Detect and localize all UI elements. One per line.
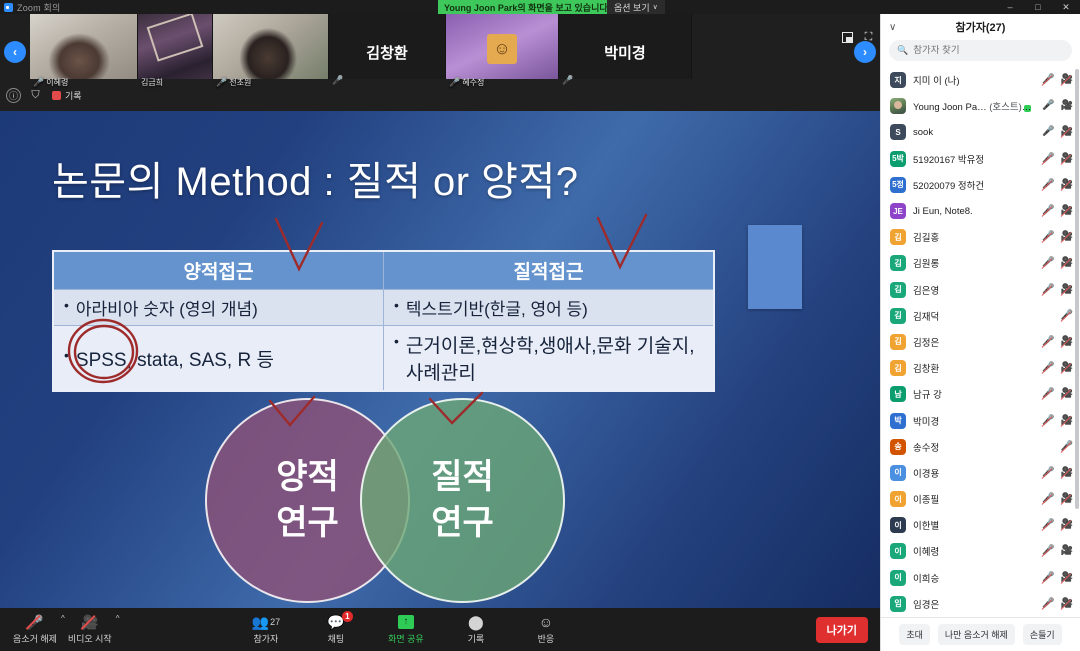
table-cell-text: 근거이론,현상학,생애사,문화 기술지,사례관리 [406, 331, 703, 385]
fullscreen-icon[interactable]: ⛶ [863, 32, 874, 43]
unmute-me-button[interactable]: 나만 음소거 해제 [938, 624, 1015, 645]
participants-scrollbar[interactable] [1075, 69, 1079, 509]
avatar: JE [890, 203, 906, 219]
video-options-caret-icon[interactable]: ^ [116, 614, 120, 623]
mic-off-icon[interactable]: 🎤 [1042, 285, 1054, 295]
toolbar-left-controls: 🎤 음소거 해제 ^ 🎥 비디오 시작 ^ [12, 608, 120, 651]
participants-panel-header: ∨ 참가자(27) [881, 14, 1080, 40]
avatar [890, 98, 906, 114]
mic-on-icon[interactable]: 🎤 [1042, 101, 1054, 111]
participant-status-icons: 🎤🎥 [1042, 546, 1073, 556]
participant-name: 이경용 [913, 466, 1035, 480]
participant-row[interactable]: 김김창환🎤🎥 [881, 355, 1080, 381]
camera-off-icon[interactable]: 🎥 [1061, 75, 1073, 85]
share-screen-button[interactable]: ↑ 화면 공유 [383, 608, 429, 651]
camera-off-icon[interactable]: 🎥 [1061, 389, 1073, 399]
table-header-cell: 질적접근 [384, 251, 715, 290]
close-button[interactable]: ✕ [1052, 0, 1080, 14]
chevron-down-icon: ∨ [653, 3, 658, 11]
avatar: 박 [890, 413, 906, 429]
bullet-icon: • [64, 295, 69, 315]
participants-icon: 👥27 [252, 614, 280, 630]
camera-off-icon[interactable]: 🎥 [1061, 363, 1073, 373]
screen-share-banner: Young Joon Park의 화면을 보고 있습니다. [438, 0, 616, 14]
camera-off-icon[interactable]: 🎥 [1061, 573, 1073, 583]
shield-icon[interactable]: ⛉ [28, 88, 43, 103]
participant-name: 이종필 [913, 492, 1035, 506]
participants-panel-footer: 초대 나만 음소거 해제 손들기 [881, 617, 1080, 651]
participant-status-icons: 🎤🎥 [1042, 285, 1073, 295]
tile-name-badge: 🎤 혜수정 [449, 77, 484, 88]
avatar: 이 [890, 517, 906, 533]
participant-row[interactable]: 이이희승🎤🎥 [881, 565, 1080, 591]
share-screen-icon: ↑ [398, 614, 414, 630]
camera-off-icon: 🎥 [81, 614, 98, 630]
participant-row[interactable]: Young Joon Pa… (호스트)↑🎤🎥 [881, 93, 1080, 119]
participant-status-icons: 🎤🎥 [1042, 258, 1073, 268]
venn-label-line2: 연구 [276, 501, 339, 547]
participant-name: Ji Eun, Note8. [913, 206, 1035, 217]
participant-row[interactable]: 김김재덕🎤 [881, 303, 1080, 329]
participant-name: 박미경 [913, 414, 1035, 428]
camera-off-icon[interactable]: 🎥 [1061, 180, 1073, 190]
slide-title: 논문의 Method : 질적 or 양적? [52, 149, 579, 207]
camera-off-icon[interactable]: 🎥 [1061, 258, 1073, 268]
share-status-bar: ⓘ ⛉ 기록 [0, 79, 880, 111]
participant-name: 김재덕 [913, 309, 1054, 323]
avatar: 송 [890, 439, 906, 455]
video-control[interactable]: 🎥 비디오 시작 ^ [67, 608, 120, 651]
avatar: 5박 [890, 151, 906, 167]
camera-on-icon[interactable]: 🎥 [1061, 101, 1073, 111]
participant-row[interactable]: 이이혜령🎤🎥 [881, 538, 1080, 564]
mic-off-icon: 🎤 [33, 78, 44, 87]
venn-label-line1: 양적 [276, 455, 339, 501]
participant-name: 김정은 [913, 335, 1035, 349]
chat-label: 채팅 [328, 632, 345, 645]
participant-name: 이한별 [913, 518, 1035, 532]
mic-off-icon[interactable]: 🎤 [1042, 573, 1054, 583]
record-button[interactable]: ⬤ 기록 [453, 608, 499, 651]
mic-off-icon[interactable]: 🎤 [1042, 468, 1054, 478]
tile-name-badge: 🎤 전초원 [216, 77, 251, 88]
table-cell: • SPSS, stata, SAS, R 등 [53, 326, 384, 392]
view-options-label: 옵션 보기 [614, 1, 650, 14]
mic-off-icon[interactable]: 🎤 [1042, 206, 1054, 216]
participant-name: 이희승 [913, 571, 1035, 585]
participant-name: 송수정 [913, 440, 1054, 454]
participant-row[interactable]: 이이한별🎤🎥 [881, 512, 1080, 538]
participant-status-icons: 🎤🎥 [1042, 337, 1073, 347]
camera-off-icon[interactable]: 🎥 [1061, 206, 1073, 216]
participants-search-wrap: 🔍 [881, 40, 1080, 67]
mic-off-icon[interactable]: 🎤 [1042, 258, 1054, 268]
mic-off-icon[interactable]: 🎤 [1042, 389, 1054, 399]
table-row: • SPSS, stata, SAS, R 등 • 근거이론,현상학,생애사,문… [53, 326, 714, 392]
recording-indicator: 기록 [52, 89, 82, 102]
mic-off-icon: 🎤 [562, 75, 573, 85]
tile-name-badge: 김금희 [141, 77, 163, 88]
participant-name: 김원롱 [913, 256, 1035, 270]
comparison-table: 양적접근 질적접근 • 아라비아 숫자 (영의 개념) • 텍스트기반(한글, … [52, 250, 715, 392]
mic-off-icon: 🎤 [216, 78, 227, 87]
maximize-button[interactable]: □ [1024, 0, 1052, 14]
participants-panel-title: 참가자(27) [956, 19, 1006, 35]
participant-status-icons: 🎤🎥 [1042, 520, 1073, 530]
avatar: 이 [890, 543, 906, 559]
participant-name: 이혜령 [913, 544, 1035, 558]
bullet-icon: • [394, 331, 399, 351]
camera-off-icon[interactable]: 🎥 [1061, 232, 1073, 242]
reactions-label: 반응 [538, 632, 555, 645]
participant-row[interactable]: Ssook🎤🎥 [881, 119, 1080, 145]
avatar: 지 [890, 72, 906, 88]
camera-off-icon[interactable]: 🎥 [1061, 599, 1073, 609]
table-cell-text: SPSS, stata, SAS, R 등 [76, 345, 274, 372]
venn-label-line1: 질적 [431, 455, 494, 501]
mic-off-icon[interactable]: 🎤 [1042, 416, 1054, 426]
toolbar-center-controls: 👥27 참가자 💬 1 채팅 ↑ 화면 공유 ⬤ 기록 ☺ 반응 [243, 608, 569, 651]
participant-row[interactable]: 송송수정🎤 [881, 434, 1080, 460]
camera-off-icon[interactable]: 🎥 [1061, 468, 1073, 478]
unmute-button[interactable]: 🎤 음소거 해제 [12, 608, 58, 651]
mic-off-icon[interactable]: 🎤 [1042, 180, 1054, 190]
mic-off-icon[interactable]: 🎤 [1042, 337, 1054, 347]
filmstrip-view-controls: ⛶ [842, 32, 874, 43]
participant-name: 김길홍 [913, 230, 1035, 244]
participant-status-icons: 🎤🎥 [1042, 75, 1073, 85]
collapse-panel-icon[interactable]: ∨ [889, 22, 896, 33]
participants-list[interactable]: 지지미 이 (나)🎤🎥Young Joon Pa… (호스트)↑🎤🎥Ssook🎤… [881, 67, 1080, 617]
zoom-logo-icon [4, 3, 13, 12]
camera-off-icon[interactable]: 🎥 [1061, 520, 1073, 530]
avatar: S [890, 124, 906, 140]
participant-row[interactable]: 5박51920167 박유정🎤🎥 [881, 146, 1080, 172]
filmstrip-prev-button[interactable]: ‹ [4, 41, 26, 63]
recording-dot-icon [1034, 102, 1035, 110]
window-titlebar: Zoom 회의 Young Joon Park의 화면을 보고 있습니다. 옵션… [0, 0, 1080, 14]
participant-status-icons: 🎤🎥 [1042, 232, 1073, 242]
participant-status-icons: 🎤🎥 [1042, 416, 1073, 426]
table-cell: • 텍스트기반(한글, 영어 등) [384, 290, 715, 326]
avatar: 김 [890, 334, 906, 350]
participant-row[interactable]: JEJi Eun, Note8.🎤🎥 [881, 198, 1080, 224]
table-cell-text: 텍스트기반(한글, 영어 등) [406, 295, 588, 320]
participants-button[interactable]: 👥27 참가자 [243, 608, 289, 651]
participant-row[interactable]: 박박미경🎤🎥 [881, 407, 1080, 433]
participant-name: sook [913, 127, 1035, 138]
view-options-button[interactable]: 옵션 보기 ∨ [607, 0, 665, 14]
mic-off-icon: 🎤 [332, 75, 343, 85]
participant-row[interactable]: 이이경용🎤🎥 [881, 460, 1080, 486]
avatar: 5정 [890, 177, 906, 193]
participant-status-icons: 🎤🎥 [1042, 180, 1073, 190]
participant-status-icons: 🎤🎥 [1042, 573, 1073, 583]
audio-options-caret-icon[interactable]: ^ [61, 614, 65, 623]
zoom-meeting-window: Zoom 회의 Young Joon Park의 화면을 보고 있습니다. 옵션… [0, 0, 1080, 651]
camera-on-icon[interactable]: 🎥 [1061, 546, 1073, 556]
filmstrip-next-button[interactable]: › [854, 41, 876, 63]
avatar: 김 [890, 282, 906, 298]
table-cell-text: 아라비아 숫자 (영의 개념) [76, 295, 258, 320]
tile-participant-name: 이혜령 [46, 77, 68, 88]
avatar: 이 [890, 570, 906, 586]
mic-off-icon[interactable]: 🎤 [1042, 494, 1054, 504]
table-row: • 아라비아 숫자 (영의 개념) • 텍스트기반(한글, 영어 등) [53, 290, 714, 326]
chat-button[interactable]: 💬 1 채팅 [313, 608, 359, 651]
avatar: 김 [890, 229, 906, 245]
window-title: Zoom 회의 [17, 1, 60, 14]
camera-off-icon[interactable]: 🎥 [1061, 337, 1073, 347]
venn-label-line2: 연구 [431, 501, 494, 547]
avatar: 김 [890, 255, 906, 271]
avatar: 김 [890, 360, 906, 376]
venn-diagram: 양적 연구 질적 연구 [205, 398, 565, 608]
participant-status-icons: 🎤🎥 [1042, 389, 1073, 399]
participant-status-icons: 🎤🎥 [1042, 154, 1073, 164]
shared-screen-stage: 논문의 Method : 질적 or 양적? 양적접근 질적접근 • 아라비아 … [0, 111, 880, 608]
participants-count: 27 [270, 615, 280, 629]
tile-participant-name: 박미경 [604, 42, 645, 63]
tile-participant-name: 김금희 [141, 77, 163, 88]
participant-name: 52020079 정하건 [913, 178, 1035, 192]
participant-name: 51920167 박유정 [913, 152, 1035, 166]
participant-row[interactable]: 김김원롱🎤🎥 [881, 250, 1080, 276]
start-video-button[interactable]: 🎥 비디오 시작 [67, 608, 113, 651]
record-dot-icon [52, 91, 61, 100]
mic-off-icon[interactable]: 🎤 [1042, 75, 1054, 85]
participant-name: 지미 이 (나) [913, 73, 1035, 87]
participant-status-icons: 🎤🎥 [1042, 599, 1073, 609]
participant-name: Young Joon Pa… (호스트)↑ [913, 99, 1035, 113]
avatar: 김 [890, 308, 906, 324]
participant-status-icons: 🎤🎥 [1042, 101, 1073, 111]
mic-off-icon[interactable]: 🎤 [1042, 599, 1054, 609]
participant-row[interactable]: 김김길홍🎤🎥 [881, 224, 1080, 250]
avatar: 이 [890, 491, 906, 507]
mic-off-icon[interactable]: 🎤 [1042, 363, 1054, 373]
mic-off-icon: 🎤 [26, 614, 43, 630]
mic-off-icon[interactable]: 🎤 [1042, 154, 1054, 164]
participant-status-icons: 🎤🎥 [1042, 206, 1073, 216]
minimize-view-icon[interactable] [842, 32, 853, 43]
participant-name: 김은영 [913, 283, 1035, 297]
meeting-toolbar: 🎤 음소거 해제 ^ 🎥 비디오 시작 ^ 👥27 참가자 [0, 608, 880, 651]
tile-name-badge: 🎤 [332, 70, 343, 88]
table-header-row: 양적접근 질적접근 [53, 251, 714, 290]
tile-participant-name: 전초원 [229, 77, 251, 88]
participant-status-icons: 🎤🎥 [1042, 494, 1073, 504]
record-label: 기록 [65, 89, 82, 102]
participant-name: 남규 강 [913, 387, 1035, 401]
camera-off-icon[interactable]: 🎥 [1061, 285, 1073, 295]
chat-unread-badge: 1 [342, 611, 353, 622]
mic-off-icon[interactable]: 🎤 [1061, 311, 1073, 321]
avatar: 임 [890, 596, 906, 612]
mic-off-icon[interactable]: 🎤 [1042, 546, 1054, 556]
window-controls: – □ ✕ [996, 0, 1080, 14]
tile-name-badge: 🎤 이혜령 [33, 77, 68, 88]
bullet-icon: • [64, 345, 69, 365]
participant-row[interactable]: 남남규 강🎤🎥 [881, 381, 1080, 407]
participant-status-icons: 🎤🎥 [1042, 468, 1073, 478]
camera-off-icon[interactable]: 🎥 [1061, 154, 1073, 164]
avatar: 이 [890, 465, 906, 481]
venn-circle-qualitative: 질적 연구 [360, 398, 565, 603]
info-icon[interactable]: ⓘ [6, 88, 21, 103]
invite-button[interactable]: 초대 [899, 624, 930, 645]
participant-name: 임경은 [913, 597, 1035, 611]
slide-artifact-rectangle [748, 225, 802, 309]
participant-row[interactable]: 김김정은🎤🎥 [881, 329, 1080, 355]
participant-name: 김창환 [913, 361, 1035, 375]
participant-row[interactable]: 임임경은🎤🎥 [881, 591, 1080, 617]
participant-status-icons: 🎤 [1061, 311, 1073, 321]
search-icon: 🔍 [897, 45, 908, 56]
leave-meeting-button[interactable]: 나가기 [816, 617, 868, 643]
mic-off-icon[interactable]: 🎤 [1042, 232, 1054, 242]
mic-off-icon: 🎤 [449, 78, 460, 87]
bullet-icon: • [394, 295, 399, 315]
mic-off-icon[interactable]: 🎤 [1042, 520, 1054, 530]
record-icon: ⬤ [468, 614, 484, 630]
reactions-button[interactable]: ☺ 반응 [523, 608, 569, 651]
share-screen-label: 화면 공유 [388, 632, 424, 645]
participant-row[interactable]: 이이종필🎤🎥 [881, 486, 1080, 512]
record-label: 기록 [468, 632, 485, 645]
audio-control[interactable]: 🎤 음소거 해제 ^ [12, 608, 65, 651]
avatar: 남 [890, 386, 906, 402]
mic-off-icon[interactable]: 🎤 [1061, 442, 1073, 452]
camera-off-icon[interactable]: 🎥 [1061, 127, 1073, 137]
camera-off-icon[interactable]: 🎥 [1061, 416, 1073, 426]
table-header-cell: 양적접근 [53, 251, 384, 290]
start-video-label: 비디오 시작 [68, 632, 112, 645]
unmute-label: 음소거 해제 [13, 632, 57, 645]
participants-search-input[interactable] [913, 45, 1064, 56]
raise-hand-button[interactable]: 손들기 [1023, 624, 1062, 645]
table-cell: • 아라비아 숫자 (영의 개념) [53, 290, 384, 326]
mic-on-icon[interactable]: 🎤 [1042, 127, 1054, 137]
participant-row[interactable]: 김김은영🎤🎥 [881, 277, 1080, 303]
reactions-icon: ☺ [539, 614, 553, 630]
table-cell: • 근거이론,현상학,생애사,문화 기술지,사례관리 [384, 326, 715, 392]
participants-search-box[interactable]: 🔍 [889, 40, 1072, 61]
participant-status-icons: 🎤🎥 [1042, 363, 1073, 373]
participant-row[interactable]: 5정52020079 정하건🎤🎥 [881, 172, 1080, 198]
participant-row[interactable]: 지지미 이 (나)🎤🎥 [881, 67, 1080, 93]
camera-off-icon[interactable]: 🎥 [1061, 494, 1073, 504]
tile-participant-name: 김창환 [366, 42, 407, 63]
host-tag: (호스트) [987, 102, 1032, 113]
tile-participant-name: 혜수정 [462, 77, 484, 88]
participant-status-icons: 🎤🎥 [1042, 127, 1073, 137]
participant-status-icons: 🎤 [1061, 442, 1073, 452]
participants-label: 참가자 [253, 632, 278, 645]
participants-panel: ∨ 참가자(27) 🔍 지지미 이 (나)🎤🎥Young Joon Pa… (호… [880, 14, 1080, 651]
minimize-button[interactable]: – [996, 0, 1024, 14]
tile-name-badge: 🎤 [562, 70, 573, 88]
